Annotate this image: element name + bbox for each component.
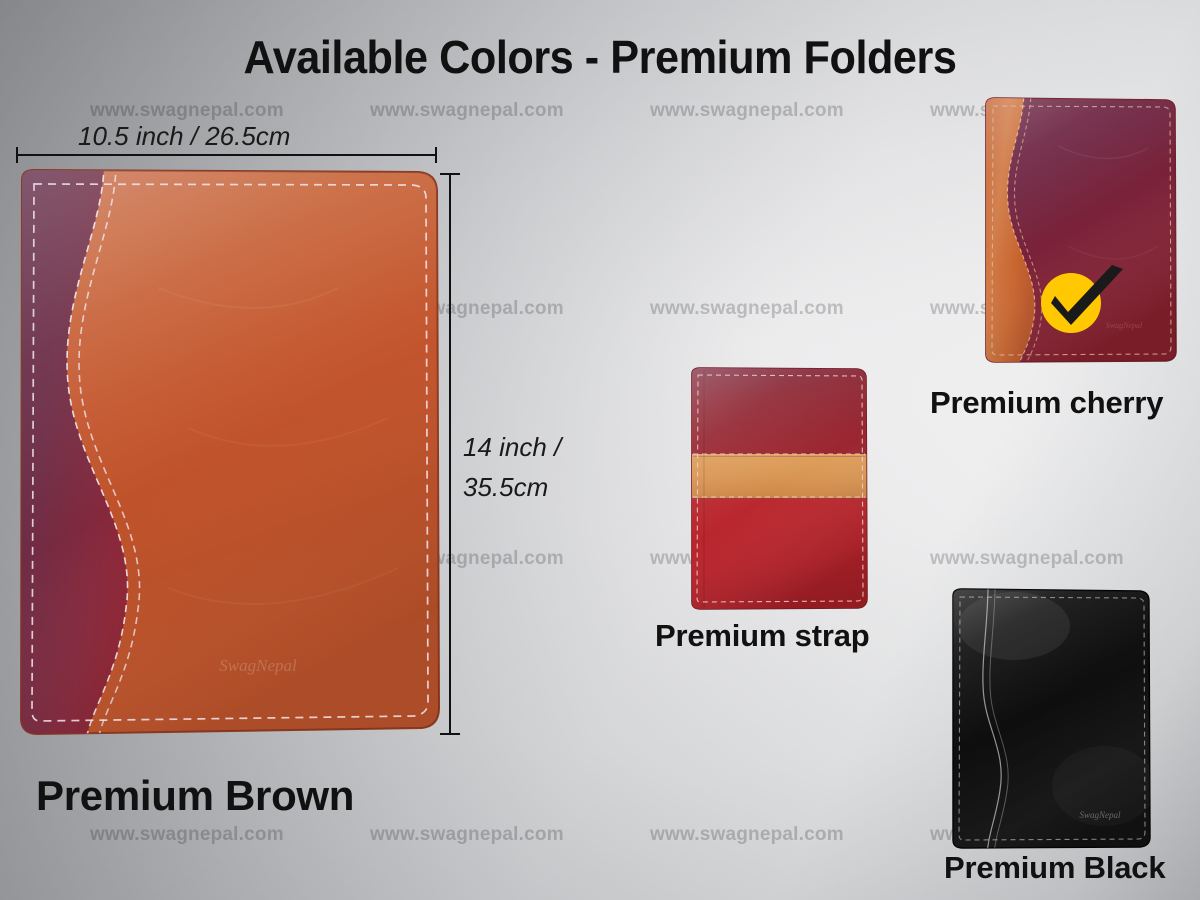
product-label-cherry: Premium cherry [930, 385, 1163, 421]
watermark-text: www.swagnepal.com [930, 548, 1124, 570]
watermark-text: www.swagnepal.com [650, 100, 844, 122]
watermark-text: www.swagnepal.com [650, 298, 844, 320]
width-dimension-line [16, 154, 437, 156]
watermark-text: www.swagnepal.com [370, 824, 564, 846]
product-label-brown: Premium Brown [36, 772, 354, 820]
watermark-text: www.swagnepal.com [370, 100, 564, 122]
product-color-chart: www.swagnepal.comwww.swagnepal.comwww.sw… [0, 0, 1200, 900]
width-dimension-label: 10.5 inch / 26.5cm [78, 121, 290, 152]
page-title: Available Colors - Premium Folders [36, 30, 1164, 84]
height-dimension-label-line1: 14 inch / [463, 432, 561, 462]
watermark-text: www.swagnepal.com [90, 824, 284, 846]
product-image-strap[interactable] [685, 366, 872, 612]
product-label-black: Premium Black [944, 850, 1165, 886]
selected-check-icon [1035, 263, 1127, 335]
height-dimension-label-line2: 35.5cm [463, 472, 548, 502]
product-label-strap: Premium strap [655, 618, 869, 654]
watermark-text: www.swagnepal.com [90, 100, 284, 122]
product-image-black[interactable]: SwagNepal [944, 586, 1157, 852]
watermark-text: www.swagnepal.com [650, 824, 844, 846]
brand-emboss-brown: SwagNepal [219, 656, 297, 675]
brand-emboss-black: SwagNepal [1079, 810, 1121, 820]
height-dimension-line [449, 173, 451, 735]
product-image-brown[interactable]: SwagNepal [8, 168, 444, 738]
height-dimension-label: 14 inch / 35.5cm [463, 427, 593, 507]
